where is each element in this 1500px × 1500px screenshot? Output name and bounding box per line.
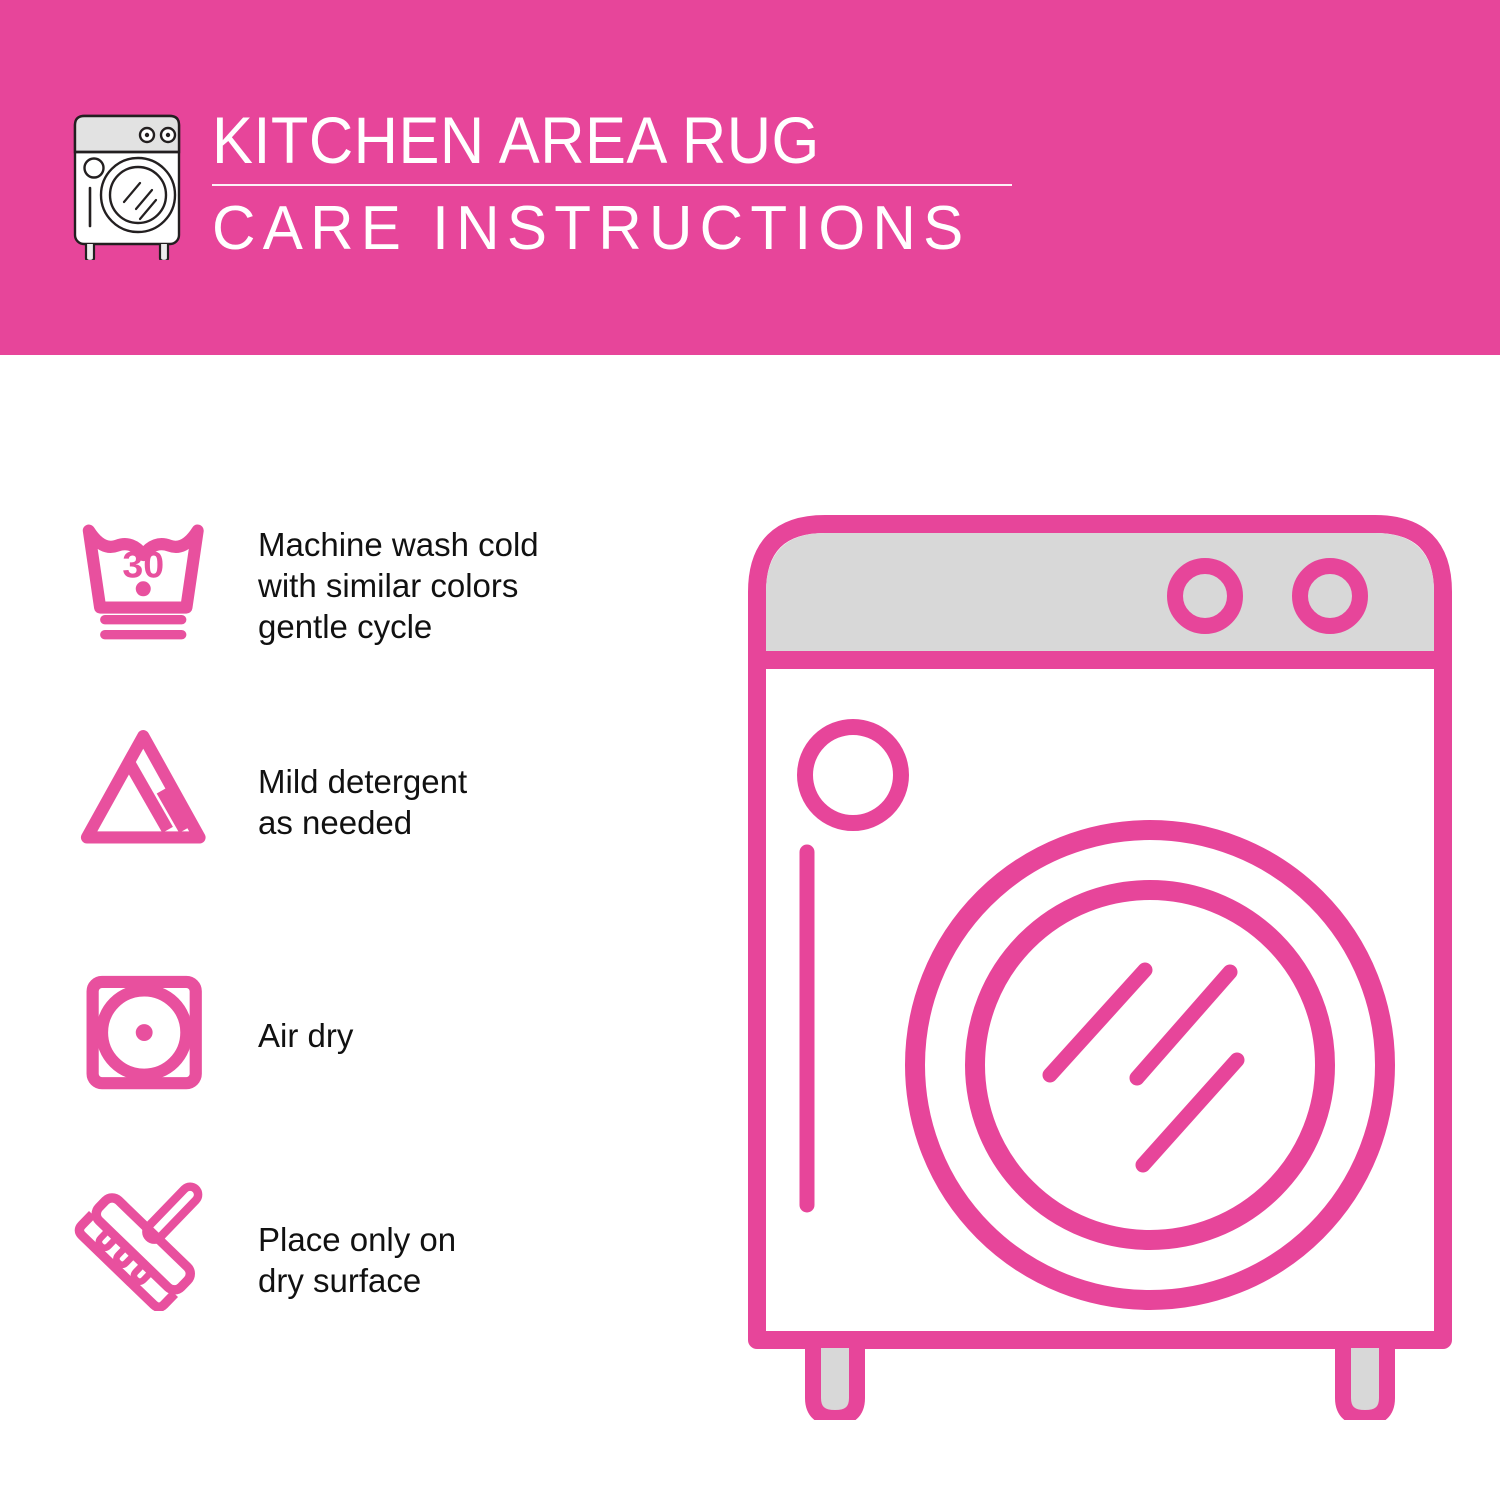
bleach-triangle-icon — [72, 723, 232, 859]
washing-machine-illustration — [745, 500, 1455, 1420]
header-band: KITCHEN AREA RUG CARE INSTRUCTIONS — [0, 0, 1500, 355]
svg-text:30: 30 — [122, 544, 164, 586]
care-instructions-page: KITCHEN AREA RUG CARE INSTRUCTIONS 30 — [0, 0, 1500, 1500]
broom-icon — [72, 1175, 232, 1311]
care-row-air-dry: Air dry — [72, 965, 672, 1101]
header-text-block: KITCHEN AREA RUG CARE INSTRUCTIONS — [212, 104, 1027, 266]
care-row-label: Air dry — [232, 965, 672, 1056]
care-instruction-list: 30 Machine wash cold with similar colors… — [0, 355, 700, 1500]
care-row-dry-surface: Place only on dry surface — [72, 1175, 672, 1311]
care-row-mild-detergent: Mild detergent as needed — [72, 723, 672, 859]
wash-tub-30-icon: 30 — [72, 510, 232, 646]
page-title: KITCHEN AREA RUG — [212, 104, 970, 176]
washing-machine-logo-icon — [66, 110, 188, 260]
page-subtitle: CARE INSTRUCTIONS — [212, 192, 1003, 266]
care-row-label: Place only on dry surface — [232, 1175, 672, 1301]
tumble-dry-square-icon — [72, 965, 232, 1101]
title-divider — [212, 184, 1012, 186]
care-row-machine-wash: 30 Machine wash cold with similar colors… — [72, 510, 672, 647]
care-row-label: Machine wash cold with similar colors ge… — [232, 510, 672, 647]
care-row-label: Mild detergent as needed — [232, 723, 672, 843]
